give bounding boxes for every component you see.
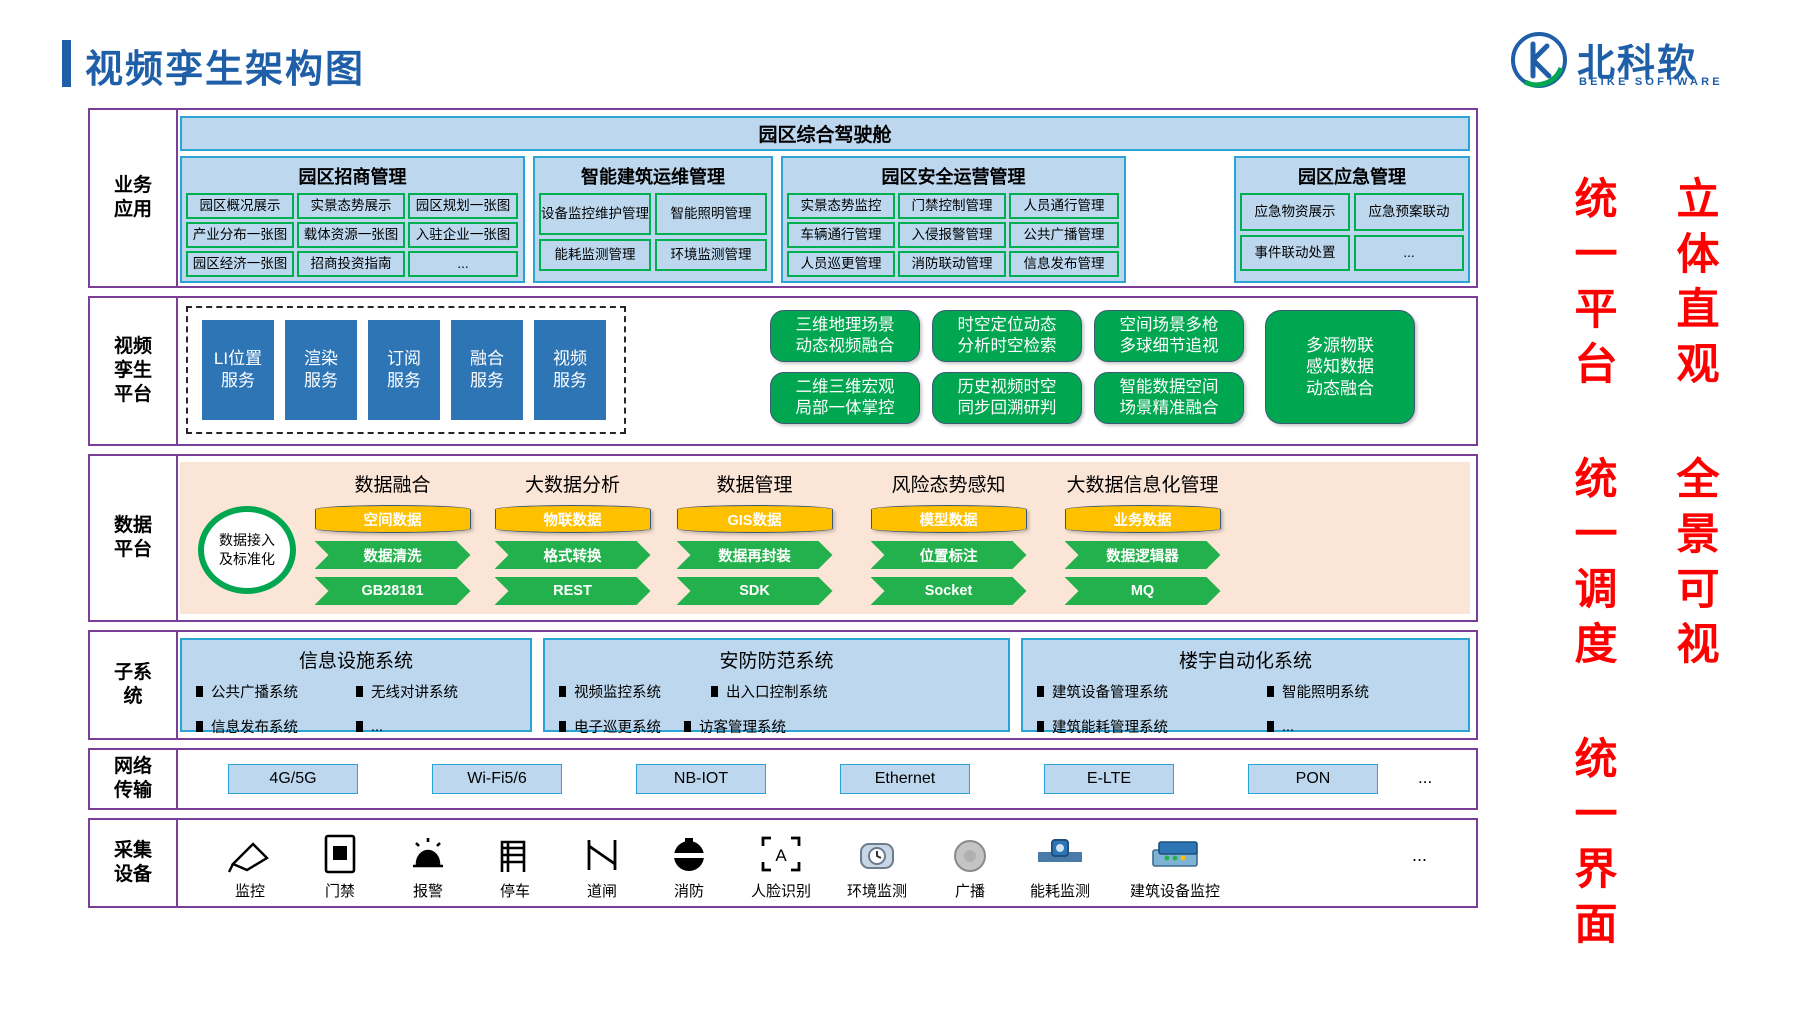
app-grid: 应急物资展示 应急预案联动 事件联动处置 ... [1236,193,1468,275]
app-cell[interactable]: 产业分布一张图 [186,222,294,248]
data-column-title: 大数据信息化管理 [1066,470,1218,497]
device-broadcast[interactable]: 广播 [925,828,1015,901]
parking-icon [494,828,536,876]
title-accent-bar [62,40,71,87]
subsystem-item-list: 公共广播系统 无线对讲系统 信息发布系统 ... [182,673,530,751]
layer-divider [176,456,178,620]
data-cylinder[interactable]: 物联数据 [495,505,651,533]
building-equipment-icon [1147,828,1203,876]
subsystem-item[interactable]: 信息发布系统 [196,716,356,737]
subsystem-title: 信息设施系统 [182,640,530,673]
subsystem-item[interactable]: 无线对讲系统 [356,681,506,702]
subsystem-item[interactable]: 出入口控制系统 [711,681,876,702]
app-cell[interactable]: 车辆通行管理 [787,222,895,248]
device-parking[interactable]: 停车 [470,828,560,901]
capability-history-video-replay[interactable]: 历史视频时空同步回溯研判 [932,372,1082,424]
environment-monitor-icon [855,828,899,876]
data-column-bigdata: 大数据分析 物联数据 格式转换 REST [490,470,655,605]
app-cell[interactable]: 园区概况展示 [186,193,294,219]
layer-label-subsystem: 子系 统 [90,632,176,738]
slogan-visual: 立体直观 全景可视 [1672,176,1715,676]
data-cylinder[interactable]: 模型数据 [871,505,1027,533]
app-cell[interactable]: 实景态势监控 [787,193,895,219]
data-column-informatization: 大数据信息化管理 业务数据 数据逻辑器 MQ [1060,470,1225,605]
subsystem-group-security: 安防防范系统 视频监控系统 出入口控制系统 电子巡更系统 访客管理系统 停车场管… [543,638,1010,732]
app-grid: 实景态势监控 门禁控制管理 人员通行管理 车辆通行管理 入侵报警管理 公共广播管… [783,193,1124,281]
app-cell[interactable]: 人员巡更管理 [787,251,895,277]
service-li-position[interactable]: LI位置服务 [202,320,274,420]
device-label: 道闸 [587,880,617,901]
face-recognition-icon: A [759,828,803,876]
layer-label-device: 采集 设备 [90,820,176,906]
layer-label-network: 网络 传输 [90,750,176,808]
app-group-title: 园区应急管理 [1236,158,1468,193]
app-cell[interactable]: 环境监测管理 [655,239,767,271]
app-group-title: 智能建筑运维管理 [535,158,771,193]
data-cylinder[interactable]: GIS数据 [677,505,833,533]
device-label: 报警 [413,880,443,901]
device-label: 停车 [500,880,530,901]
capability-multi-source-iot-fusion[interactable]: 多源物联 感知数据 动态融合 [1265,310,1415,424]
data-protocol[interactable]: MQ [1065,577,1221,605]
subsystem-item[interactable]: 访客管理系统 [684,716,836,737]
data-column-risk: 风险态势感知 模型数据 位置标注 Socket [866,470,1031,605]
device-energy-meter[interactable]: 能耗监测 [1010,828,1110,901]
data-protocol[interactable]: SDK [677,577,833,605]
bullet-icon [1037,721,1044,732]
app-cell[interactable]: 园区经济一张图 [186,251,294,277]
device-barrier-gate[interactable]: 道闸 [557,828,647,901]
device-alarm[interactable]: 报警 [383,828,473,901]
capability-spatiotemporal-search[interactable]: 时空定位动态分析时空检索 [932,310,1082,362]
logo-text-en: BEIKE SOFTWARE [1579,76,1723,88]
app-cell[interactable]: 能耗监测管理 [539,239,651,271]
app-cell[interactable]: 人员通行管理 [1009,193,1119,219]
app-cell[interactable]: 智能照明管理 [655,193,767,235]
network-item-elte[interactable]: E-LTE [1044,764,1174,794]
logo-mark-icon [1511,32,1567,88]
network-item-ethernet[interactable]: Ethernet [840,764,970,794]
layer-divider [176,110,178,286]
app-cell[interactable]: 园区规划一张图 [408,193,518,219]
app-cell[interactable]: ... [1354,235,1464,271]
camera-icon [227,828,273,876]
data-column-title: 数据融合 [354,470,430,497]
network-item-pon[interactable]: PON [1248,764,1378,794]
device-label: 人脸识别 [751,880,811,901]
fire-protection-icon [667,828,711,876]
app-cell[interactable]: 门禁控制管理 [898,193,1006,219]
app-cell[interactable]: 信息发布管理 [1009,251,1119,277]
subsystem-group-information: 信息设施系统 公共广播系统 无线对讲系统 信息发布系统 ... [180,638,532,732]
bullet-icon [356,721,363,732]
data-protocol[interactable]: GB28181 [315,577,471,605]
data-protocol[interactable]: REST [495,577,651,605]
cockpit-banner[interactable]: 园区综合驾驶舱 [180,116,1470,151]
bullet-icon [196,686,203,697]
access-control-icon [323,828,357,876]
data-cylinder[interactable]: 空间数据 [315,505,471,533]
app-group-title: 园区招商管理 [182,158,523,193]
device-camera[interactable]: 监控 [205,828,295,901]
app-group-investment: 园区招商管理 园区概况展示 实景态势展示 园区规划一张图 产业分布一张图 载体资… [180,156,525,283]
data-process-step[interactable]: 数据清洗 [315,541,471,569]
twin-services-group: LI位置服务 渲染服务 订阅服务 融合服务 视频服务 [186,306,626,434]
device-face-recognition[interactable]: A 人脸识别 [731,828,831,901]
capability-smart-data-scene-fusion[interactable]: 智能数据空间场景精准融合 [1094,372,1244,424]
bullet-icon [1267,686,1274,697]
data-process-step[interactable]: 格式转换 [495,541,651,569]
data-column-management: 数据管理 GIS数据 数据再封装 SDK [672,470,837,605]
subsystem-item-list: 建筑设备管理系统 智能照明系统 建筑能耗管理系统 ... [1023,673,1468,751]
service-render[interactable]: 渲染服务 [285,320,357,420]
bullet-icon [559,686,566,697]
device-label: 广播 [955,880,985,901]
subsystem-item[interactable]: ... [1267,716,1447,737]
bullet-icon [559,721,566,732]
layer-divider [176,632,178,738]
network-item-nbiot[interactable]: NB-IOT [636,764,766,794]
slogan-unified: 统一平台 统一调度 统一界面 [1570,176,1613,956]
app-cell[interactable]: 事件联动处置 [1240,235,1350,271]
app-group-safety-ops: 园区安全运营管理 实景态势监控 门禁控制管理 人员通行管理 车辆通行管理 入侵报… [781,156,1126,283]
subsystem-item[interactable]: 视频监控系统 [559,681,711,702]
app-cell[interactable]: 消防联动管理 [898,251,1006,277]
layer-divider [176,820,178,906]
bullet-icon [1037,686,1044,697]
page-header: 视频孪生架构图 北科软 BEIKE SOFTWARE [0,0,1801,100]
app-cell[interactable]: 实景态势展示 [297,193,405,219]
data-column-fusion: 数据融合 空间数据 数据清洗 GB28181 [310,470,475,605]
bullet-icon [196,721,203,732]
data-protocol[interactable]: Socket [871,577,1027,605]
subsystem-item[interactable]: 建筑能耗管理系统 [1037,716,1267,737]
page-title: 视频孪生架构图 [85,38,365,93]
data-ingest-node[interactable]: 数据接入 及标准化 [198,506,296,594]
network-ellipsis: ... [1418,768,1432,788]
subsystem-title: 安防防范系统 [545,640,1008,673]
layer-label-platform: 视频 孪生 平台 [90,298,176,444]
device-label: 监控 [235,880,265,901]
data-process-step[interactable]: 数据再封装 [677,541,833,569]
service-subscribe[interactable]: 订阅服务 [368,320,440,420]
app-group-building-om: 智能建筑运维管理 设备监控维护管理 智能照明管理 能耗监测管理 环境监测管理 [533,156,773,283]
layer-label-business: 业务 应用 [90,110,176,286]
service-fusion[interactable]: 融合服务 [451,320,523,420]
subsystem-item[interactable]: 智能照明系统 [1267,681,1447,702]
energy-meter-icon [1034,828,1086,876]
capability-2d-3d-macro-control[interactable]: 二维三维宏观局部一体掌控 [770,372,920,424]
layer-divider [176,750,178,808]
subsystem-title: 楼宇自动化系统 [1023,640,1468,673]
device-fire-protection[interactable]: 消防 [644,828,734,901]
device-label: 环境监测 [847,880,907,901]
data-process-step[interactable]: 位置标注 [871,541,1027,569]
capability-multi-camera-tracking[interactable]: 空间场景多枪多球细节追视 [1094,310,1244,362]
company-logo: 北科软 BEIKE SOFTWARE [1511,32,1751,94]
app-group-emergency: 园区应急管理 应急物资展示 应急预案联动 事件联动处置 ... [1234,156,1470,283]
device-building-equipment[interactable]: 建筑设备监控 [1110,828,1240,901]
device-ellipsis: ... [1412,845,1427,866]
device-label: 消防 [674,880,704,901]
alarm-icon [407,828,449,876]
bullet-icon [684,721,691,732]
svg-text:A: A [775,846,787,865]
app-cell[interactable]: 应急预案联动 [1354,193,1464,231]
app-cell[interactable]: 载体资源一张图 [297,222,405,248]
device-label: 门禁 [325,880,355,901]
app-grid: 园区概况展示 实景态势展示 园区规划一张图 产业分布一张图 载体资源一张图 入驻… [182,193,523,281]
bullet-icon [1267,721,1274,732]
app-cell[interactable]: 应急物资展示 [1240,193,1350,231]
bullet-icon [356,686,363,697]
device-environment-monitor[interactable]: 环境监测 [827,828,927,901]
subsystem-item[interactable]: 电子巡更系统 [559,716,684,737]
network-item-4g5g[interactable]: 4G/5G [228,764,358,794]
app-cell[interactable]: 招商投资指南 [297,251,405,277]
subsystem-item[interactable]: 公共广播系统 [196,681,356,702]
app-grid: 设备监控维护管理 智能照明管理 能耗监测管理 环境监测管理 [535,193,771,275]
device-access-control[interactable]: 门禁 [295,828,385,901]
capability-3d-geo-video-fusion[interactable]: 三维地理场景动态视频融合 [770,310,920,362]
data-column-title: 大数据分析 [525,470,620,497]
subsystem-item[interactable]: 建筑设备管理系统 [1037,681,1267,702]
data-column-title: 数据管理 [716,470,792,497]
layer-divider [176,298,178,444]
network-item-wifi[interactable]: Wi-Fi5/6 [432,764,562,794]
subsystem-group-building-automation: 楼宇自动化系统 建筑设备管理系统 智能照明系统 建筑能耗管理系统 ... [1021,638,1470,732]
service-video[interactable]: 视频服务 [534,320,606,420]
data-cylinder[interactable]: 业务数据 [1065,505,1221,533]
data-process-step[interactable]: 数据逻辑器 [1065,541,1221,569]
bullet-icon [711,686,718,697]
barrier-gate-icon [581,828,623,876]
app-cell[interactable]: 入驻企业一张图 [408,222,518,248]
app-cell[interactable]: 设备监控维护管理 [539,193,651,235]
subsystem-item[interactable]: ... [356,716,506,737]
app-cell[interactable]: 公共广播管理 [1009,222,1119,248]
broadcast-icon [948,828,992,876]
app-cell[interactable]: 入侵报警管理 [898,222,1006,248]
app-group-title: 园区安全运营管理 [783,158,1124,193]
device-label: 能耗监测 [1030,880,1090,901]
app-cell[interactable]: ... [408,251,518,277]
device-label: 建筑设备监控 [1130,880,1220,901]
data-column-title: 风险态势感知 [891,470,1005,497]
layer-label-data: 数据 平台 [90,456,176,620]
